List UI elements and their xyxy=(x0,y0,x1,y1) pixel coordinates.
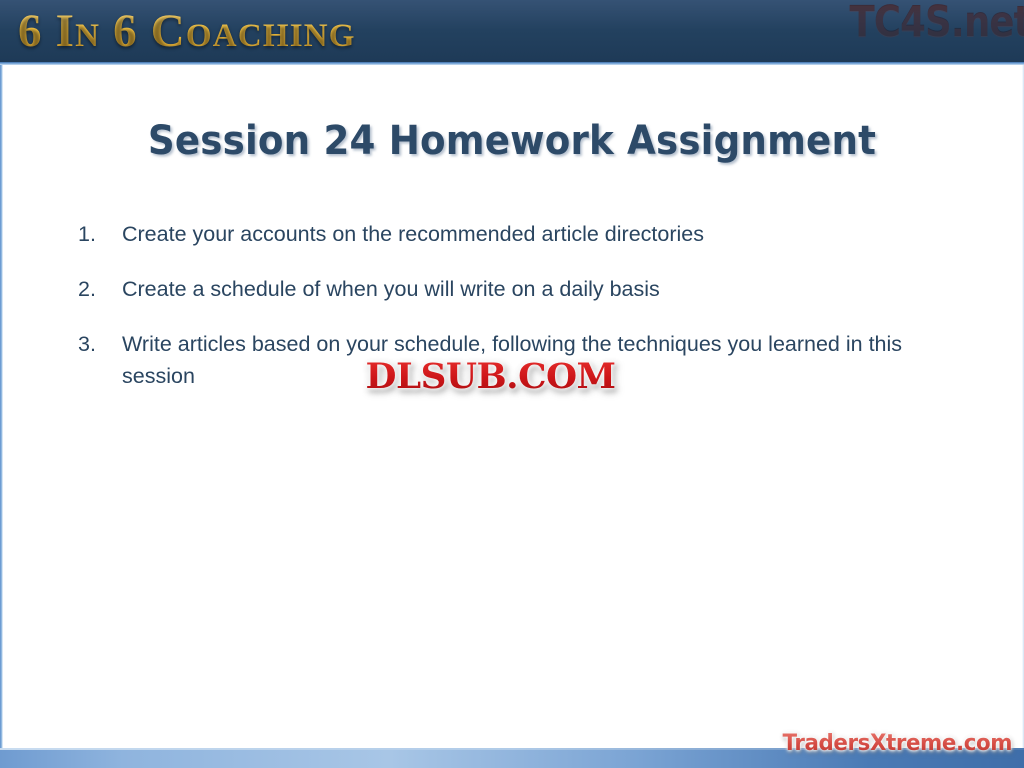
list-item-text: Create a schedule of when you will write… xyxy=(122,277,660,301)
tc4s-net-logo: TC4S.net xyxy=(849,0,1024,48)
list-item-number: 3. xyxy=(78,328,108,360)
tradersxtreme-com-logo: TradersXtreme.com xyxy=(783,731,1013,756)
list-item-text: Create your accounts on the recommended … xyxy=(122,222,704,246)
list-item: 2. Create a schedule of when you will wr… xyxy=(78,273,968,305)
header-divider-line xyxy=(0,62,1024,65)
list-item-number: 2. xyxy=(78,273,108,305)
slide-header-band: 6 In 6 Coaching TC4S.net xyxy=(0,0,1024,62)
list-item-number: 1. xyxy=(78,218,108,250)
dlsub-com-watermark: DLSUB.COM xyxy=(366,356,616,397)
presentation-slide: 6 In 6 Coaching TC4S.net Session 24 Home… xyxy=(0,0,1024,768)
list-item: 1. Create your accounts on the recommend… xyxy=(78,218,968,250)
left-edge-rule xyxy=(0,65,3,755)
slide-title: Session 24 Homework Assignment xyxy=(36,118,988,164)
brand-logo-6-in-6-coaching: 6 In 6 Coaching xyxy=(18,3,356,59)
